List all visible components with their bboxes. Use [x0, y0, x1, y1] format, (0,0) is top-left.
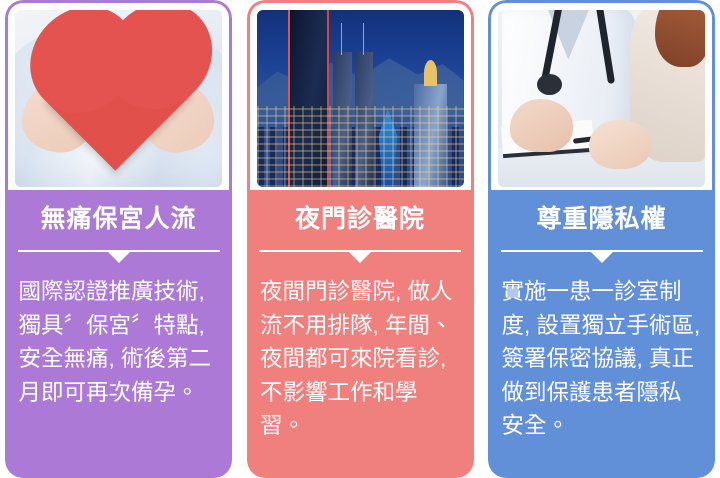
title-divider — [259, 250, 461, 262]
chevron-down-triangle-icon — [591, 252, 613, 263]
feature-card-night-clinic[interactable]: 夜門診醫院 夜間門診醫院, 做人流不用排隊, 年間、夜間都可來院看診, 不影響工… — [247, 0, 474, 478]
patient-hands-shape — [589, 120, 651, 170]
card-image-frame — [247, 0, 474, 190]
card-description: 國際認證推廣技術, 獨具〞保宮〞特點, 安全無痛, 術後第二月即可再次備孕。 — [19, 275, 219, 409]
feature-card-privacy-respect[interactable]: 尊重隱私權 實施一患一診室制度, 設置獨立手術區, 簽署保密協議, 真正做到保護… — [488, 0, 715, 478]
card-image-frame — [488, 0, 715, 190]
night-city-skyline-photo — [257, 10, 464, 187]
feature-card-board: 無痛保宮人流 國際認證推廣技術, 獨具〞保宮〞特點, 安全無痛, 術後第二月即可… — [0, 0, 720, 478]
city-lights-glow — [257, 106, 464, 187]
card-description: 夜間門診醫院, 做人流不用排隊, 年間、夜間都可來院看診, 不影響工作和學習。 — [260, 275, 460, 443]
card-title: 尊重隱私權 — [536, 207, 666, 232]
doctor-consulting-patient-photo — [498, 10, 705, 187]
nurse-holding-red-heart-photo — [15, 10, 222, 187]
chevron-down-triangle-icon — [349, 252, 371, 263]
title-divider — [18, 250, 220, 262]
chevron-down-triangle-icon — [108, 252, 130, 263]
card-title: 夜門診醫院 — [295, 207, 425, 232]
card-content-panel: 尊重隱私權 實施一患一診室制度, 設置獨立手術區, 簽署保密協議, 真正做到保護… — [488, 190, 715, 478]
card-content-panel: 無痛保宮人流 國際認證推廣技術, 獨具〞保宮〞特點, 安全無痛, 術後第二月即可… — [5, 190, 232, 478]
title-divider — [501, 250, 703, 262]
card-content-panel: 夜門診醫院 夜間門診醫院, 做人流不用排隊, 年間、夜間都可來院看診, 不影響工… — [247, 190, 474, 478]
doctor-hands-shape — [510, 99, 572, 152]
card-description: 實施一患一診室制度, 設置獨立手術區, 簽署保密協議, 真正做到保護患者隱私安全… — [502, 275, 702, 443]
feature-card-painless-uterus-protection[interactable]: 無痛保宮人流 國際認證推廣技術, 獨具〞保宮〞特點, 安全無痛, 術後第二月即可… — [5, 0, 232, 478]
card-image-frame — [5, 0, 232, 190]
card-title: 無痛保宮人流 — [40, 207, 196, 232]
patient-hair-shape — [655, 10, 705, 67]
stethoscope-bell-icon — [537, 74, 562, 95]
